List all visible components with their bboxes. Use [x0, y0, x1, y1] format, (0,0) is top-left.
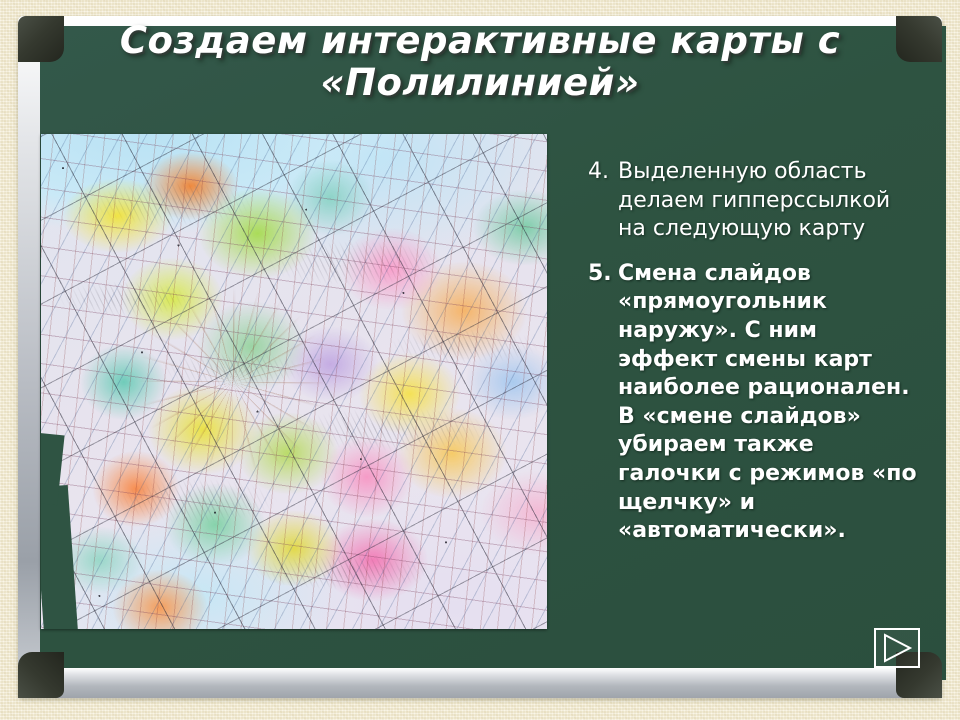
next-slide-button[interactable]: [874, 628, 920, 668]
list-item-number: 5.: [588, 260, 618, 289]
frame-corner-top-right: [896, 16, 942, 62]
board-ledge: [18, 668, 942, 698]
slide-title: Создаем интерактивные карты с «Полилиние…: [0, 20, 960, 104]
list-item: 5. Смена слайдов «прямоугольник наружу».…: [588, 260, 920, 546]
frame-corner-top-left: [18, 16, 64, 62]
play-triangle-icon: [876, 630, 918, 666]
list-item-text: Выделенную область делаем гипперссылкой …: [618, 158, 920, 244]
slide-body-text: 4. Выделенную область делаем гипперссылк…: [588, 158, 920, 562]
frame-corner-bottom-left: [18, 652, 64, 698]
list-item: 4. Выделенную область делаем гипперссылк…: [588, 158, 920, 244]
russia-administrative-map-image: [41, 134, 547, 629]
list-item-text: Смена слайдов «прямоугольник наружу». С …: [618, 260, 920, 546]
list-item-number: 4.: [588, 158, 618, 187]
slide-canvas: Создаем интерактивные карты с «Полилиние…: [0, 0, 960, 720]
map-cities-layer: [41, 134, 547, 629]
